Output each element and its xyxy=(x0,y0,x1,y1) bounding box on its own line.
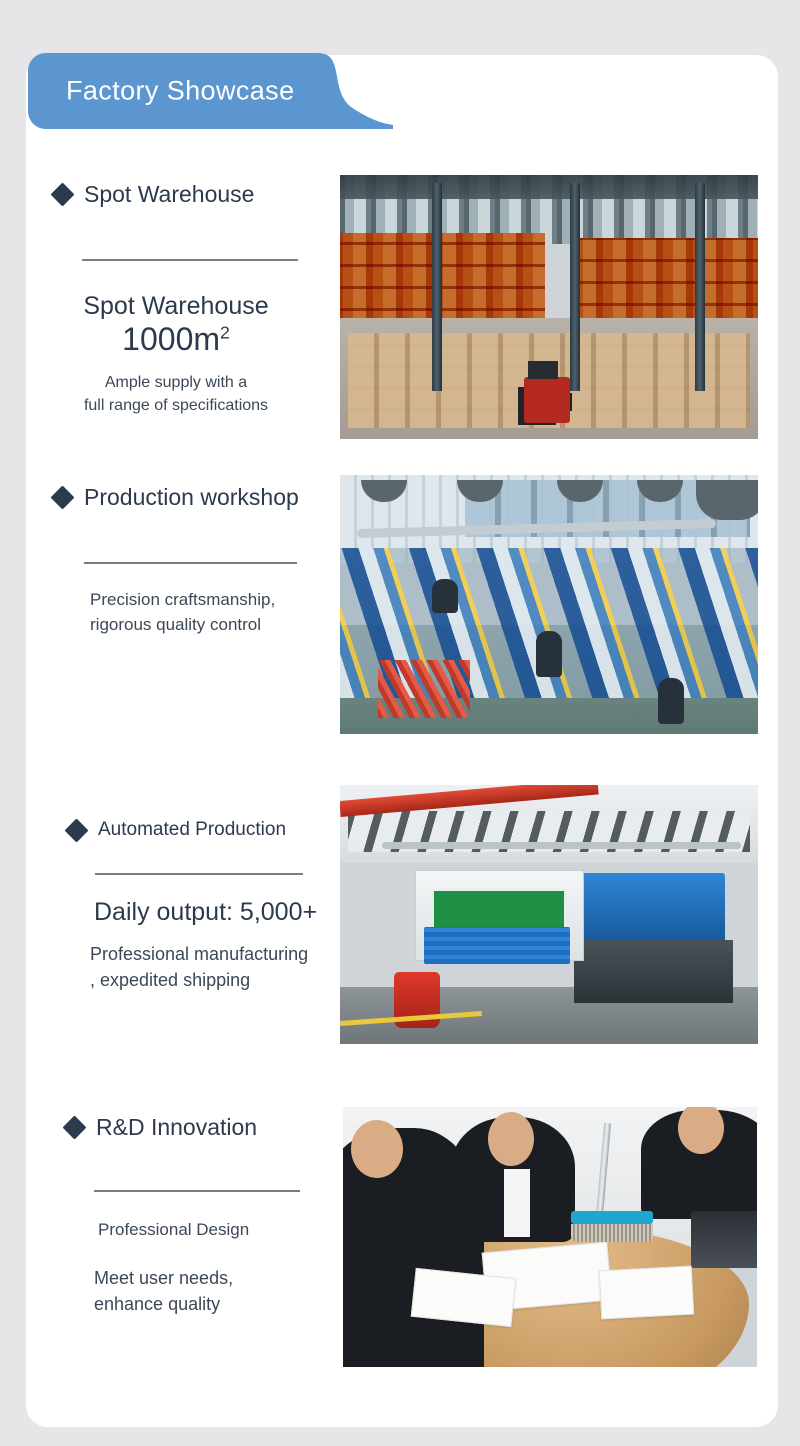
workshop-scene xyxy=(340,475,758,734)
diamond-icon xyxy=(50,183,74,207)
warehouse-column-left xyxy=(432,183,442,392)
section-1-title: Spot Warehouse xyxy=(84,182,254,207)
section-3-divider xyxy=(95,873,303,875)
workshop-worker-1 xyxy=(536,631,562,677)
workshop-mop-handles xyxy=(378,660,470,718)
section-3-title: Automated Production xyxy=(98,820,286,841)
meeting-head-left xyxy=(351,1120,403,1178)
warehouse-photo xyxy=(340,175,758,439)
diamond-icon xyxy=(62,1116,86,1140)
section-1-text: Spot Warehouse Spot Warehouse 1000m2 Amp… xyxy=(54,182,324,417)
section-2-description: Precision craftsmanship, rigorous qualit… xyxy=(90,588,334,637)
warehouse-column-mid xyxy=(570,183,580,392)
section-4-heading: R&D Innovation xyxy=(66,1115,346,1140)
warehouse-forklift xyxy=(524,377,570,423)
rd-meeting-photo xyxy=(343,1107,757,1367)
section-2-title: Production workshop xyxy=(84,485,299,510)
section-1-metric: 1000m2 xyxy=(54,322,298,357)
section-4-divider xyxy=(94,1190,300,1192)
section-1-metric-unit: 2 xyxy=(220,322,230,342)
header-tab: Factory Showcase xyxy=(28,53,393,129)
automation-green-panel xyxy=(432,889,566,929)
section-1-description: Ample supply with a full range of specif… xyxy=(54,371,298,417)
section-3-heading: Automated Production xyxy=(68,820,343,841)
automation-scene xyxy=(340,785,758,1044)
section-1-metric-block: Spot Warehouse 1000m2 Ample supply with … xyxy=(54,291,298,417)
section-4-text: R&D Innovation Professional Design Meet … xyxy=(66,1115,346,1317)
meeting-broom-head xyxy=(571,1211,654,1224)
workshop-worker-2 xyxy=(658,678,684,724)
section-1-divider xyxy=(82,259,298,261)
warehouse-scene xyxy=(340,175,758,439)
section-4-title: R&D Innovation xyxy=(96,1115,257,1140)
section-1-metric-value: 1000m xyxy=(122,321,220,357)
section-4-headline: Professional Design xyxy=(98,1218,346,1243)
diamond-icon xyxy=(50,486,74,510)
meeting-shirt-center xyxy=(504,1169,530,1237)
automation-machine-base xyxy=(574,940,733,1002)
warehouse-column-right xyxy=(695,183,705,392)
automation-tool-board xyxy=(424,927,570,963)
section-3-headline: Daily output: 5,000+ xyxy=(94,897,343,928)
section-4-description: Meet user needs, enhance quality xyxy=(94,1265,346,1317)
meeting-laptop xyxy=(691,1211,757,1268)
section-3-text: Automated Production Daily output: 5,000… xyxy=(68,820,343,994)
section-1-heading: Spot Warehouse xyxy=(54,182,324,207)
meeting-head-center xyxy=(488,1112,534,1166)
automation-photo xyxy=(340,785,758,1044)
diamond-icon xyxy=(64,818,88,842)
page-title: Factory Showcase xyxy=(66,76,295,107)
section-2-divider xyxy=(84,562,297,564)
section-1-headline: Spot Warehouse xyxy=(54,291,298,322)
meeting-blueprint-3 xyxy=(598,1266,694,1320)
workshop-lamp-5 xyxy=(696,480,758,520)
warehouse-racking-right xyxy=(570,238,758,328)
section-3-description: Professional manufacturing , expedited s… xyxy=(90,941,343,993)
workshop-photo xyxy=(340,475,758,734)
workshop-worker-3 xyxy=(432,579,458,613)
meeting-broom-bristles xyxy=(571,1224,654,1242)
section-2-heading: Production workshop xyxy=(54,485,334,510)
section-2-text: Production workshop Precision craftsmans… xyxy=(54,485,334,638)
rd-meeting-scene xyxy=(343,1107,757,1367)
automation-pipes xyxy=(382,842,741,849)
